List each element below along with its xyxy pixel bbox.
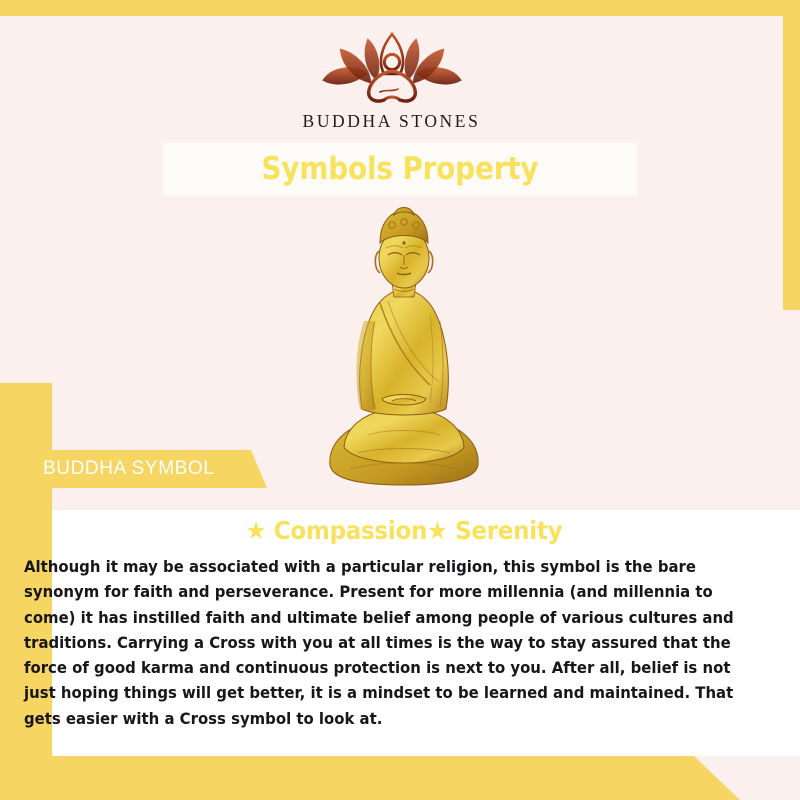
section-body-text: Although it may be associated with a par… (24, 555, 750, 732)
ribbon-label: BUDDHA SYMBOL (27, 458, 214, 480)
brand-header: BUDDHA STONES (0, 16, 783, 143)
page-title: Symbols Property (261, 151, 538, 187)
golden-buddha-image (318, 203, 490, 488)
buddha-symbol-ribbon: BUDDHA SYMBOL (27, 450, 267, 488)
top-yellow-band (0, 0, 800, 16)
brand-name: BUDDHA STONES (303, 111, 481, 132)
title-banner: Symbols Property (163, 143, 637, 195)
bottom-yellow-band (0, 756, 740, 800)
content-panel: ★ Compassion★ Serenity Although it may b… (52, 510, 800, 756)
right-yellow-band (783, 0, 800, 310)
section-subheading: ★ Compassion★ Serenity (54, 510, 753, 545)
lotus-meditation-icon (308, 32, 476, 106)
page-root: BUDDHA STONES Symbols Property (0, 0, 800, 800)
